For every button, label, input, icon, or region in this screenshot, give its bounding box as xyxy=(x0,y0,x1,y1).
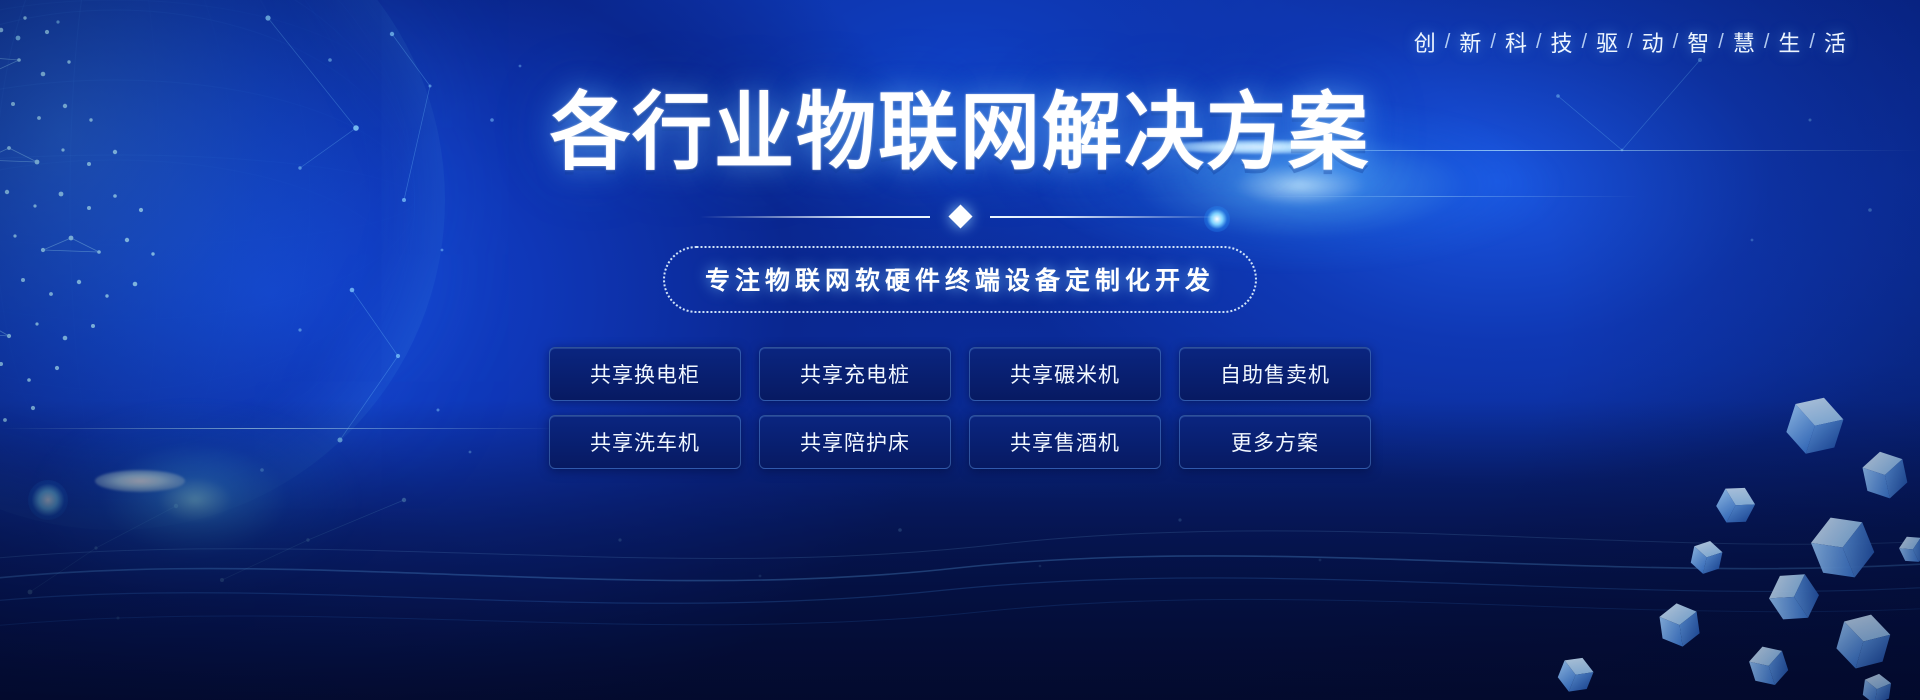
tagline-separator: / xyxy=(1711,31,1732,54)
tagline-char: 创 xyxy=(1413,26,1438,58)
tagline-char: 智 xyxy=(1686,26,1711,58)
tagline-separator: / xyxy=(1620,31,1641,54)
solution-tag-row: 共享洗车机共享陪护床共享售酒机更多方案 xyxy=(549,415,1371,469)
solution-tag-button[interactable]: 自助售卖机 xyxy=(1179,347,1371,401)
tagline-separator: / xyxy=(1483,31,1504,54)
tagline-separator: / xyxy=(1575,31,1596,54)
iot-solutions-banner: 创/新/科/技/驱/动/智/慧/生/活 各行业物联网解决方案 专注物联网软硬件终… xyxy=(0,0,1920,700)
tagline-char: 慧 xyxy=(1732,26,1757,58)
solution-tag-button[interactable]: 更多方案 xyxy=(1179,415,1371,469)
solution-tag-button[interactable]: 共享洗车机 xyxy=(549,415,741,469)
solution-tag-button[interactable]: 共享陪护床 xyxy=(759,415,951,469)
solution-tag-groups: 共享换电柜共享充电桩共享碾米机自助售卖机共享洗车机共享陪护床共享售酒机更多方案 xyxy=(549,347,1371,469)
tagline-char: 科 xyxy=(1504,26,1529,58)
solution-tag-row: 共享换电柜共享充电桩共享碾米机自助售卖机 xyxy=(549,347,1371,401)
solution-tag-button[interactable]: 共享碾米机 xyxy=(969,347,1161,401)
tagline-char: 活 xyxy=(1823,26,1848,58)
page-title: 各行业物联网解决方案 xyxy=(550,90,1370,176)
solution-tag-button[interactable]: 共享售酒机 xyxy=(969,415,1161,469)
tagline-separator: / xyxy=(1757,31,1778,54)
tagline-char: 驱 xyxy=(1595,26,1620,58)
solution-tag-button[interactable]: 共享换电柜 xyxy=(549,347,741,401)
tagline-char: 新 xyxy=(1458,26,1483,58)
center-content: 各行业物联网解决方案 专注物联网软硬件终端设备定制化开发 共享换电柜共享充电桩共… xyxy=(0,92,1920,469)
subtitle-pill: 专注物联网软硬件终端设备定制化开发 xyxy=(663,246,1257,313)
tagline: 创/新/科/技/驱/动/智/慧/生/活 xyxy=(1413,26,1848,58)
divider-diamond-icon xyxy=(948,205,972,229)
tagline-separator: / xyxy=(1802,31,1823,54)
divider-line-right xyxy=(990,216,1220,218)
tagline-char: 技 xyxy=(1550,26,1575,58)
tagline-separator: / xyxy=(1666,31,1687,54)
tagline-separator: / xyxy=(1438,31,1459,54)
solution-tag-button[interactable]: 共享充电桩 xyxy=(759,347,951,401)
tagline-char: 动 xyxy=(1641,26,1666,58)
tagline-char: 生 xyxy=(1777,26,1802,58)
divider-line-left xyxy=(700,216,930,218)
title-divider xyxy=(700,204,1220,230)
tagline-separator: / xyxy=(1529,31,1550,54)
